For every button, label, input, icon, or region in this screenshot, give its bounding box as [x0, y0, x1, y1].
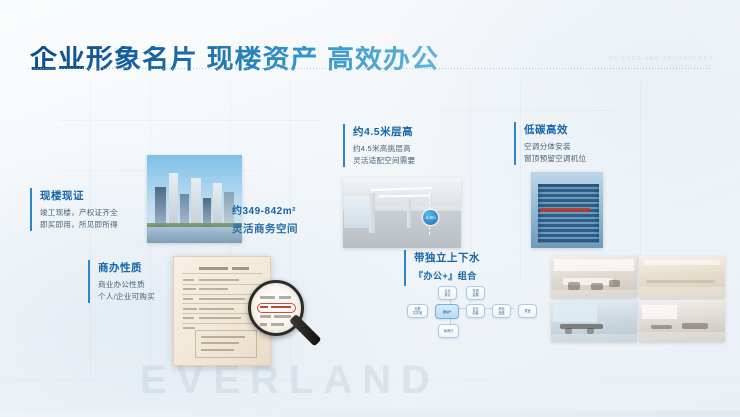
card-ready-property: 现楼现证 竣工现楼，产权证齐全 即买即用，所见即所得: [30, 188, 118, 231]
card-floor-height-heading: 约4.5米层高: [353, 124, 415, 139]
card-floor-height-line1: 约4.5米高挑层高: [353, 143, 415, 155]
card-floor-height: 约4.5米层高 约4.5米高挑层高 灵活适配空间需要: [343, 124, 415, 167]
brand-line-primary: SCIENCE AND TECHNOLOGY: [609, 56, 714, 62]
diagram-node-4: 商务 品鉴: [492, 304, 511, 318]
card-ready-property-heading: 现楼现证: [40, 188, 118, 203]
card-low-carbon: 低碳高效 空调分体安装 窗顶预留空调机位: [514, 122, 586, 165]
gallery-photo-lobby: [639, 256, 725, 298]
card-commercial-nature: 商办性质 商业办公性质 个人/企业可购买: [88, 260, 155, 303]
diagram-node-5: 茶室: [518, 304, 537, 318]
footer-bar: [0, 411, 740, 417]
card-commercial-nature-line1: 商业办公性质: [98, 279, 155, 291]
photo-office-interior: 4.5m: [343, 178, 461, 248]
card-commercial-nature-heading: 商办性质: [98, 260, 155, 275]
magnifier-handle: [289, 314, 322, 347]
card-ready-property-line1: 竣工现楼，产权证齐全: [40, 207, 118, 219]
card-area-range-line2: 灵活商务空间: [232, 221, 298, 236]
gallery-photo-workspace: [639, 300, 725, 342]
card-area-range: 约349-842m² 灵活商务空间: [232, 202, 298, 240]
card-floor-height-line2: 灵活适配空间需要: [353, 155, 415, 167]
card-ready-property-line2: 即买即用，所见即所得: [40, 219, 118, 231]
card-area-range-line1: 约349-842m²: [232, 202, 298, 217]
diagram-node-6: 休闲厅: [438, 324, 459, 338]
watermark: EVERLAND: [140, 358, 440, 403]
card-water-supply-heading: 带独立上下水: [414, 250, 480, 265]
diagram-node-2: 社群 共享室: [407, 304, 428, 318]
office-plus-diagram: 企业 设计 花语 会展 社群 共享室 办公+ 企业 会客 商务 品鉴 茶室 休闲…: [404, 286, 542, 348]
diagram-node-center: 办公+: [435, 304, 459, 319]
card-water-supply: 带独立上下水 『办公+』组合: [404, 250, 480, 286]
diagram-node-3: 企业 会客: [466, 304, 485, 318]
slide-header: 企业形象名片 现楼资产 高效办公 SCIENCE AND TECHNOLOGY …: [0, 20, 740, 70]
card-low-carbon-line2: 窗顶预留空调机位: [524, 153, 586, 165]
photo-gallery-grid: [551, 256, 725, 342]
photo-city-skyline: [147, 155, 242, 243]
diagram-node-1: 花语 会展: [466, 286, 485, 300]
magnifier-icon: [248, 280, 298, 330]
diagram-node-0: 企业 设计: [438, 286, 457, 300]
gallery-photo-meeting-room: [551, 256, 637, 298]
card-low-carbon-heading: 低碳高效: [524, 122, 586, 137]
card-low-carbon-line1: 空调分体安装: [524, 141, 586, 153]
card-water-supply-line1: 『办公+』组合: [414, 269, 480, 282]
slide-root: 企业形象名片 现楼资产 高效办公 SCIENCE AND TECHNOLOGY …: [0, 0, 740, 417]
highlighted-row: [257, 303, 296, 313]
card-commercial-nature-line2: 个人/企业可购买: [98, 291, 155, 303]
gallery-photo-open-office: [551, 300, 637, 342]
photo-glass-building: [531, 172, 603, 248]
header-divider: [28, 68, 712, 69]
